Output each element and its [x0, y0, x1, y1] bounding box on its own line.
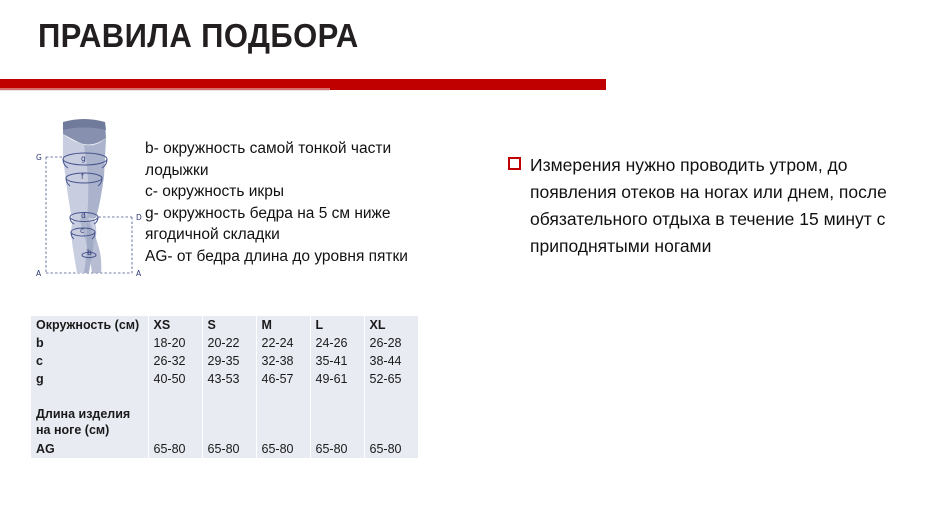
- cell-c-m: 32-38: [256, 352, 310, 370]
- row-label-ag: AG: [31, 440, 148, 458]
- measurement-key-line-b: b- окружность самой тонкой части лодыжки: [145, 138, 440, 181]
- section-label-line1: Длина изделия: [36, 407, 130, 421]
- measurement-advice-note: Измерения нужно проводить утром, до появ…: [508, 152, 908, 260]
- cell-ag-xl: 65-80: [364, 440, 418, 458]
- cell-g-l: 49-61: [310, 370, 364, 388]
- section-cell-xl: [364, 405, 418, 440]
- table-spacer-row: [31, 388, 418, 405]
- section-cell-m: [256, 405, 310, 440]
- cell-c-l: 35-41: [310, 352, 364, 370]
- cell-g-m: 46-57: [256, 370, 310, 388]
- cell-ag-xs: 65-80: [148, 440, 202, 458]
- measurement-key-line-ag: AG- от бедра длина до уровня пятки: [145, 246, 440, 268]
- cell-g-s: 43-53: [202, 370, 256, 388]
- section-cell-l: [310, 405, 364, 440]
- cell-b-xs: 18-20: [148, 334, 202, 352]
- table-row: g 40-50 43-53 46-57 49-61 52-65: [31, 370, 418, 388]
- cell-b-m: 22-24: [256, 334, 310, 352]
- spacer-cell-xs: [148, 388, 202, 405]
- diagram-marker-f: f: [81, 172, 84, 181]
- spacer-cell-l: [310, 388, 364, 405]
- section-label-length: Длина изделия на ноге (см): [31, 405, 148, 440]
- spacer-cell-xl: [364, 388, 418, 405]
- table-header-s: S: [202, 316, 256, 334]
- diagram-label-D: D: [136, 213, 142, 222]
- table-header-l: L: [310, 316, 364, 334]
- leg-measurement-diagram: g f d c b G D A A: [32, 116, 148, 288]
- section-cell-s: [202, 405, 256, 440]
- table-header-row: Окружность (см) XS S M L XL: [31, 316, 418, 334]
- spacer-cell-m: [256, 388, 310, 405]
- size-chart-table: Окружность (см) XS S M L XL b 18-20 20-2…: [31, 316, 418, 458]
- page-title: ПРАВИЛА ПОДБОРА: [38, 17, 359, 55]
- cell-b-s: 20-22: [202, 334, 256, 352]
- table-row: AG 65-80 65-80 65-80 65-80 65-80: [31, 440, 418, 458]
- spacer-cell-s: [202, 388, 256, 405]
- row-label-c: c: [31, 352, 148, 370]
- diagram-marker-d: d: [81, 211, 86, 220]
- cell-g-xl: 52-65: [364, 370, 418, 388]
- title-accent-rule-shadow: [0, 88, 330, 91]
- diagram-label-A-right: A: [136, 269, 142, 278]
- table-section-row: Длина изделия на ноге (см): [31, 405, 418, 440]
- table-row: b 18-20 20-22 22-24 24-26 26-28: [31, 334, 418, 352]
- cell-c-s: 29-35: [202, 352, 256, 370]
- cell-ag-m: 65-80: [256, 440, 310, 458]
- cell-c-xl: 38-44: [364, 352, 418, 370]
- measurement-key-line-g: g- окружность бедра на 5 см ниже ягодичн…: [145, 203, 440, 246]
- red-square-bullet-icon: [508, 157, 521, 170]
- diagram-marker-b: b: [87, 248, 92, 257]
- cell-c-xs: 26-32: [148, 352, 202, 370]
- cell-ag-l: 65-80: [310, 440, 364, 458]
- measurement-advice-text: Измерения нужно проводить утром, до появ…: [530, 152, 908, 260]
- table-row: c 26-32 29-35 32-38 35-41 38-44: [31, 352, 418, 370]
- section-cell-xs: [148, 405, 202, 440]
- diagram-label-A-left: A: [36, 269, 42, 278]
- row-label-g: g: [31, 370, 148, 388]
- diagram-marker-g: g: [81, 154, 86, 163]
- row-label-b: b: [31, 334, 148, 352]
- spacer-cell-label: [31, 388, 148, 405]
- cell-ag-s: 65-80: [202, 440, 256, 458]
- cell-g-xs: 40-50: [148, 370, 202, 388]
- cell-b-l: 24-26: [310, 334, 364, 352]
- diagram-label-G: G: [36, 153, 42, 162]
- table-header-measure: Окружность (см): [31, 316, 148, 334]
- section-label-line2: на ноге (см): [36, 423, 109, 437]
- measurement-key: b- окружность самой тонкой части лодыжки…: [145, 138, 440, 267]
- table-header-xs: XS: [148, 316, 202, 334]
- table-header-m: M: [256, 316, 310, 334]
- slide-canvas: ПРАВИЛА ПОДБОРА: [0, 0, 928, 505]
- cell-b-xl: 26-28: [364, 334, 418, 352]
- measurement-key-line-c: c- окружность икры: [145, 181, 440, 203]
- diagram-marker-c: c: [80, 226, 84, 235]
- table-header-xl: XL: [364, 316, 418, 334]
